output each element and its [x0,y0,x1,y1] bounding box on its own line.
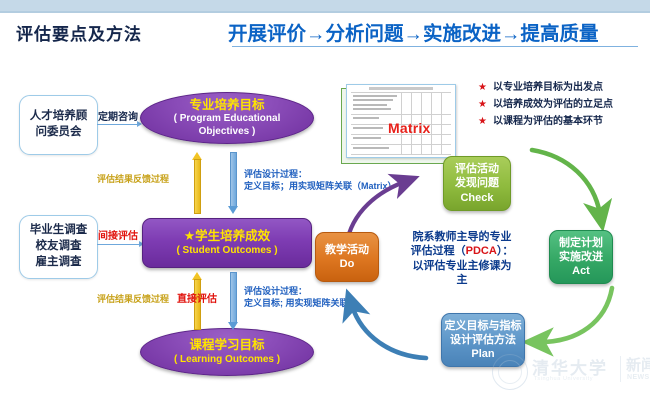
watermark-university-en: Tsinghua University [534,376,593,382]
survey-sources-box: 毕业生调查 校友调查 雇主调查 [19,215,98,279]
pdca-center-line-2a: 评估过程（ [411,245,466,257]
check-en: Check [460,191,493,205]
student-outcomes-shape: ★学生培养成效 ( Student Outcomes ) [142,218,312,268]
advisory-connector-line [97,124,139,125]
design-arrow-upper [228,152,239,214]
so-cn-label: ★学生培养成效 [184,229,270,245]
act-line-1: 制定计划 [559,236,603,250]
design-arrow-lower [228,272,239,330]
list-item: ★ 以专业培养目标为出发点 [478,82,648,94]
feedback-label-upper: 评估结果反馈过程 [97,172,169,185]
pdca-box-check: 评估活动 发现问题 Check [443,156,511,211]
university-watermark: 清华大学 Tsinghua University 新闻 NEWS [492,352,650,396]
university-seal-icon [492,354,528,390]
design-arrow-upper-head [228,206,238,214]
pdca-center-line-2: 评估过程（PDCA）： [392,244,532,258]
feedback-arrow-upper [192,152,203,214]
peo-cn-label: 专业培养目标 [189,98,264,114]
star-icon: ★ [478,99,487,111]
program-educational-objectives-shape: 专业培养目标 ( Program Educational Objectives … [140,92,314,144]
act-line-2: 实施改进 [559,250,603,264]
star-icon: ★ [478,116,487,128]
arrow-check-to-act [532,150,600,214]
pdca-center-description: 院系教师主导的专业 评估过程（PDCA）： 以评估专业主修课为 主 [392,230,532,287]
slide-section-title: 评估要点及方法 [16,20,142,45]
watermark-divider [620,356,621,382]
peo-en-label-2: Objectives ) [199,126,256,139]
arrow-act-to-plan [540,288,612,342]
so-en-label: ( Student Outcomes ) [176,245,277,258]
survey-line-3: 雇主调查 [36,255,82,271]
check-line-2: 发现问题 [455,176,499,190]
pdca-center-line-4: 主 [392,273,532,287]
check-line-1: 评估活动 [455,162,499,176]
watermark-section-en: NEWS [627,374,650,381]
list-item: ★ 以课程为评估的基本环节 [478,116,648,128]
do-line-1: 教学活动 [325,243,369,257]
design-arrow-lower-stem [230,272,237,323]
act-en: Act [572,264,590,278]
pdca-center-line-1: 院系教师主导的专业 [392,230,532,244]
survey-line-1: 毕业生调查 [30,223,88,239]
pdca-acronym: PDCA [466,245,497,257]
survey-arrow-label: 间接评估 [98,227,138,242]
advisory-arrow-label: 定期咨询 [98,108,138,123]
top-accent-line [0,11,650,13]
learning-outcomes-shape: 课程学习目标 ( Learning Outcomes ) [140,328,314,376]
pdca-center-line-2c: ）： [497,245,514,257]
slide-canvas: 评估要点及方法 开展评价→分析问题→实施改进→提高质量 人才培养顾 问委员会 毕… [0,0,650,400]
plan-line-1: 定义目标与指标 [445,319,522,333]
direct-assessment-label: 直接评估 [177,290,217,305]
design-arrow-upper-stem [230,152,237,207]
design-arrow-lower-head [228,322,238,330]
feedback-label-lower: 评估结果反馈过程 [97,292,169,305]
pdca-box-do: 教学活动 Do [315,232,379,282]
matrix-caption: Matrix [388,120,430,136]
plan-line-2: 设计评估方法 [450,333,516,347]
survey-line-2: 校友调查 [36,239,82,255]
key-points-list: ★ 以专业培养目标为出发点 ★ 以培养成效为评估的立足点 ★ 以课程为评估的基本… [478,82,648,133]
feedback-arrow-upper-stem [194,159,201,214]
survey-connector-line [97,244,141,245]
peo-en-label-1: ( Program Educational [174,113,281,126]
pdca-box-act: 制定计划 实施改进 Act [549,230,613,284]
pdca-center-line-3: 以评估专业主修课为 [392,259,532,273]
advisory-committee-box: 人才培养顾 问委员会 [19,95,98,155]
watermark-section-cn: 新闻 [626,354,650,375]
bullet-text-3: 以课程为评估的基本环节 [493,116,603,128]
lo-en-label: ( Learning Outcomes ) [174,354,280,367]
lo-cn-label: 课程学习目标 [189,338,264,354]
matrix-sheet-title-bar [369,87,433,90]
title-underline [232,46,638,47]
bullet-text-1: 以专业培养目标为出发点 [493,82,603,94]
star-icon: ★ [478,82,487,94]
do-en: Do [340,257,355,271]
bullet-text-2: 以培养成效为评估的立足点 [493,99,613,111]
list-item: ★ 以培养成效为评估的立足点 [478,99,648,111]
advisory-line-1: 人才培养顾 [30,109,88,125]
advisory-line-2: 问委员会 [36,125,82,141]
slide-main-title: 开展评价→分析问题→实施改进→提高质量 [228,17,599,46]
arrow-plan-to-do [352,306,426,358]
